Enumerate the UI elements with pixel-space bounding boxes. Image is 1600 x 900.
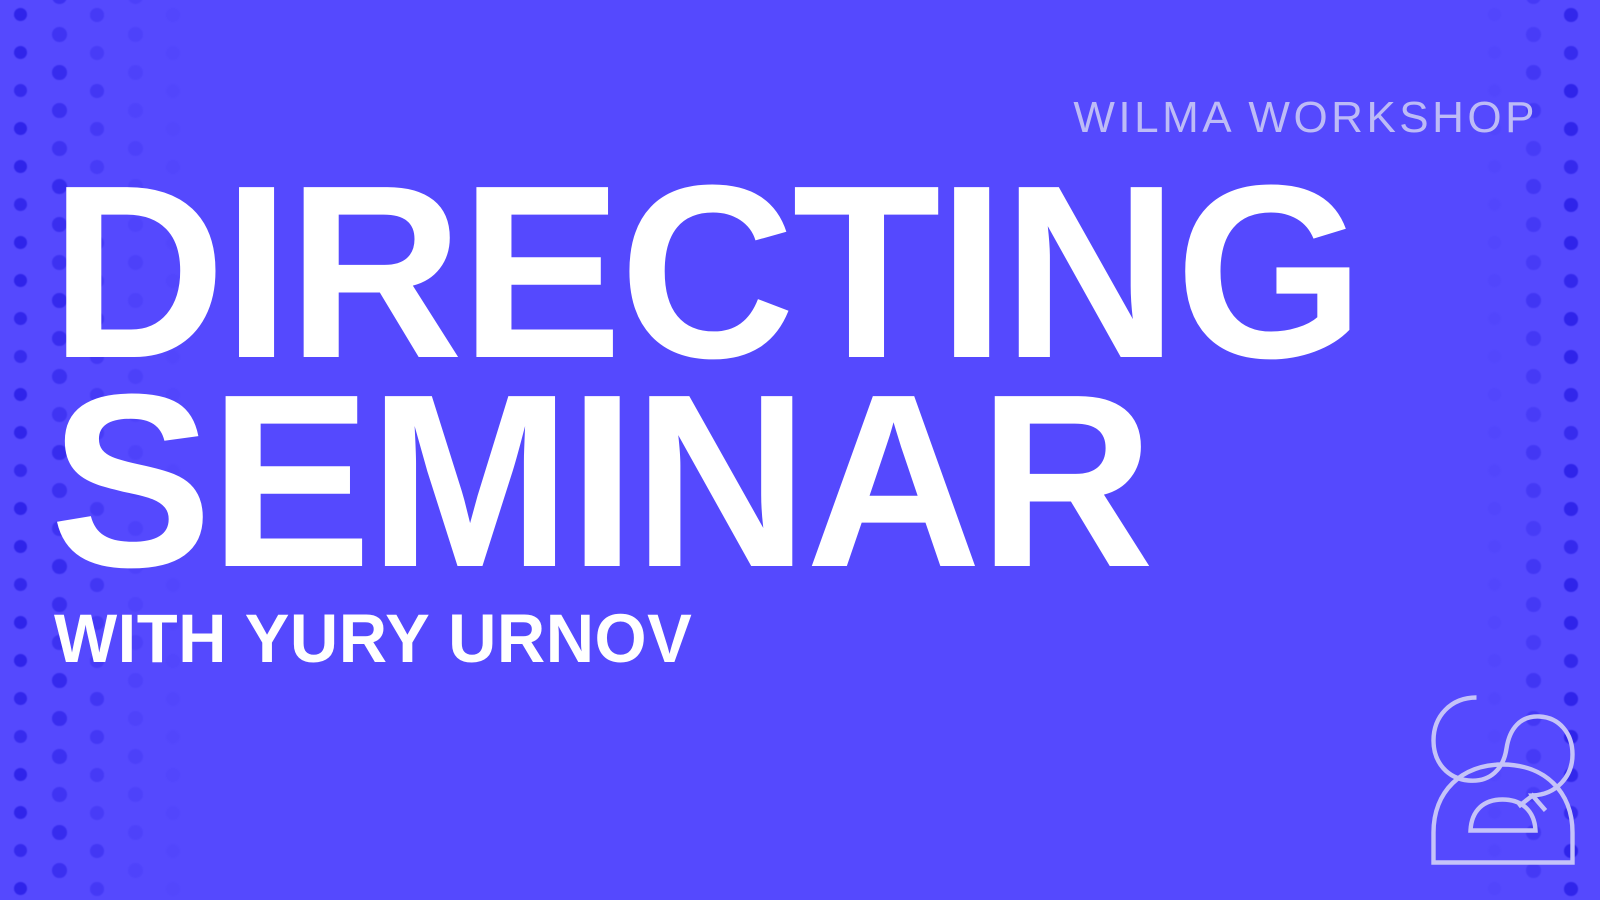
- halftone-dot: [166, 8, 180, 22]
- halftone-dot: [52, 711, 67, 726]
- halftone-dot: [1526, 217, 1541, 232]
- halftone-dot: [14, 274, 27, 287]
- halftone-dot: [52, 825, 67, 840]
- halftone-dot: [166, 806, 180, 820]
- halftone-dot: [1526, 407, 1541, 422]
- halftone-dot: [1564, 236, 1578, 250]
- halftone-dot: [1564, 578, 1578, 592]
- halftone-dot: [1526, 331, 1541, 346]
- halftone-dot: [166, 730, 180, 744]
- ds-monogram-icon: [1406, 636, 1581, 868]
- halftone-dot: [14, 578, 27, 591]
- halftone-dot: [1526, 445, 1541, 460]
- halftone-dot: [14, 160, 27, 173]
- halftone-dot: [52, 863, 67, 878]
- halftone-dot: [14, 616, 27, 629]
- halftone-dot: [52, 103, 67, 118]
- halftone-dot: [1488, 46, 1501, 59]
- halftone-dot: [1564, 122, 1578, 136]
- halftone-dot: [90, 730, 104, 744]
- halftone-dot: [14, 46, 27, 59]
- halftone-dot: [166, 692, 180, 706]
- halftone-dot: [1564, 8, 1578, 22]
- halftone-dot: [14, 464, 27, 477]
- halftone-dot: [1526, 597, 1541, 612]
- halftone-dot: [128, 65, 143, 80]
- halftone-dot: [128, 863, 143, 878]
- halftone-dot: [128, 749, 143, 764]
- halftone-dot: [1526, 369, 1541, 384]
- halftone-dot: [128, 787, 143, 802]
- halftone-dot-column: [14, 0, 30, 900]
- halftone-dot: [1488, 236, 1501, 249]
- halftone-dot: [1488, 882, 1501, 895]
- halftone-dot: [14, 692, 27, 705]
- halftone-dot: [14, 84, 27, 97]
- halftone-dot: [1564, 502, 1578, 516]
- halftone-dot: [1488, 274, 1501, 287]
- ds-monogram-logo: [1406, 636, 1581, 868]
- poster-canvas: WILMA WORKSHOP DIRECTING SEMINAR WITH YU…: [0, 0, 1600, 900]
- halftone-dot: [166, 84, 180, 98]
- halftone-dot: [1488, 464, 1501, 477]
- page-title: DIRECTING SEMINAR: [50, 168, 1310, 585]
- halftone-dot: [1488, 160, 1501, 173]
- halftone-dot: [14, 730, 27, 743]
- halftone-dot: [14, 350, 27, 363]
- halftone-dot: [128, 711, 143, 726]
- halftone-dot: [90, 692, 104, 706]
- halftone-dot: [52, 0, 67, 4]
- halftone-dot: [1564, 388, 1578, 402]
- title-line-2: SEMINAR: [50, 377, 1291, 586]
- halftone-dot: [166, 46, 180, 60]
- halftone-dot: [1526, 0, 1541, 4]
- halftone-dot: [1564, 426, 1578, 440]
- halftone-dot: [1488, 388, 1501, 401]
- halftone-dot: [166, 768, 180, 782]
- halftone-dot: [1526, 521, 1541, 536]
- halftone-dot: [128, 27, 143, 42]
- halftone-dot: [90, 882, 104, 896]
- halftone-dot: [52, 749, 67, 764]
- halftone-dot: [1526, 65, 1541, 80]
- halftone-dot: [128, 103, 143, 118]
- halftone-dot: [90, 8, 104, 22]
- halftone-dot: [1488, 8, 1501, 21]
- halftone-dot: [1526, 179, 1541, 194]
- halftone-dot: [14, 768, 27, 781]
- halftone-dot: [52, 27, 67, 42]
- presenter-subtitle: WITH YURY URNOV: [54, 604, 692, 673]
- halftone-dot: [14, 388, 27, 401]
- halftone-dot: [1488, 350, 1501, 363]
- halftone-dot: [14, 198, 27, 211]
- halftone-dot: [1564, 312, 1578, 326]
- halftone-dot: [1564, 46, 1578, 60]
- halftone-dot: [1488, 616, 1501, 629]
- halftone-dot: [1564, 350, 1578, 364]
- halftone-dot: [1564, 882, 1578, 896]
- halftone-dot: [1488, 540, 1501, 553]
- halftone-dot: [90, 844, 104, 858]
- halftone-dot: [14, 844, 27, 857]
- halftone-dot: [14, 882, 27, 895]
- halftone-dot: [1488, 578, 1501, 591]
- halftone-dot: [128, 0, 143, 4]
- halftone-dot: [90, 46, 104, 60]
- halftone-dot: [14, 312, 27, 325]
- halftone-dot: [14, 8, 27, 21]
- halftone-dot: [1526, 559, 1541, 574]
- halftone-dot: [1564, 540, 1578, 554]
- halftone-dot: [1564, 160, 1578, 174]
- halftone-dot: [90, 806, 104, 820]
- halftone-dot: [1564, 198, 1578, 212]
- halftone-dot: [1488, 502, 1501, 515]
- halftone-dot: [166, 844, 180, 858]
- halftone-dot: [1526, 483, 1541, 498]
- halftone-dot: [128, 825, 143, 840]
- halftone-dot: [1564, 274, 1578, 288]
- halftone-dot: [90, 768, 104, 782]
- halftone-dot: [14, 426, 27, 439]
- halftone-dot: [1526, 255, 1541, 270]
- halftone-dot: [166, 882, 180, 896]
- halftone-dot: [14, 806, 27, 819]
- halftone-dot: [1488, 312, 1501, 325]
- halftone-dot: [14, 122, 27, 135]
- halftone-dot: [52, 65, 67, 80]
- halftone-dot: [1488, 426, 1501, 439]
- halftone-dot: [14, 236, 27, 249]
- halftone-dot: [1526, 293, 1541, 308]
- halftone-dot: [1564, 84, 1578, 98]
- halftone-dot: [1488, 198, 1501, 211]
- halftone-dot: [14, 502, 27, 515]
- halftone-dot: [1564, 464, 1578, 478]
- halftone-dot: [1564, 616, 1578, 630]
- halftone-dot: [14, 654, 27, 667]
- halftone-dot: [90, 84, 104, 98]
- halftone-dot: [14, 540, 27, 553]
- halftone-dot: [1526, 141, 1541, 156]
- halftone-dot: [1526, 27, 1541, 42]
- halftone-dot: [52, 787, 67, 802]
